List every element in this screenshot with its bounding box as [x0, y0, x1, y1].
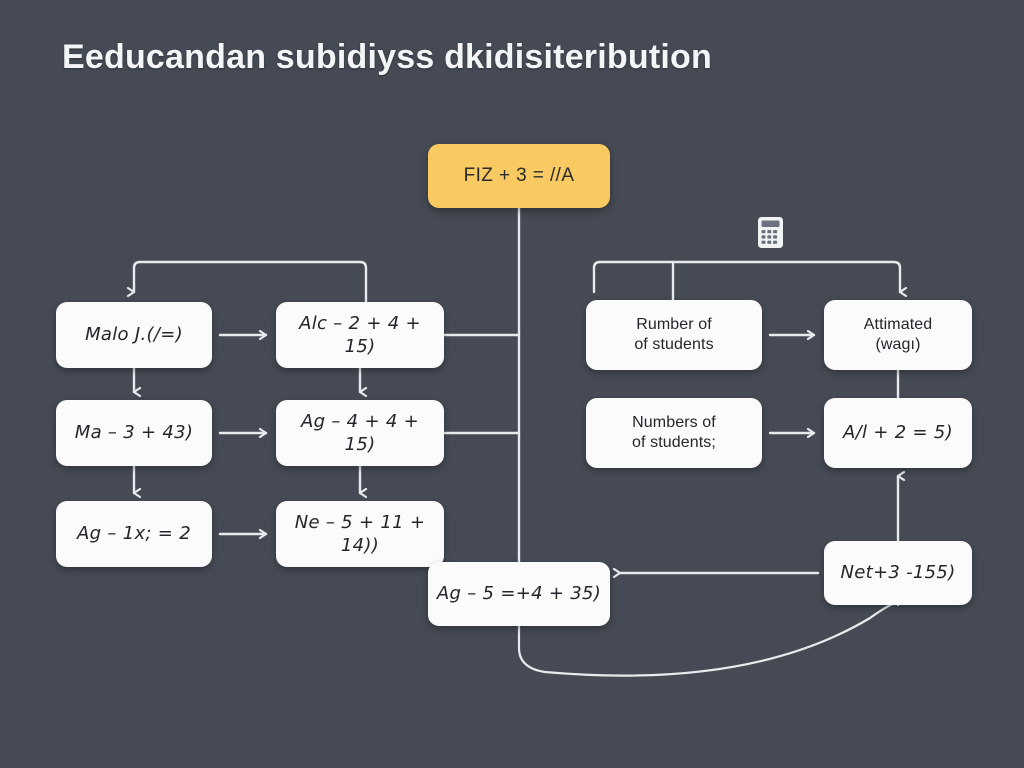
connector-lines	[0, 0, 1024, 768]
diagram-canvas: Eeducandan subidiyss dkidisiteribution	[0, 0, 1024, 768]
node-left-2-to[interactable]: Ag – 4 + 4 + 15)	[276, 400, 444, 466]
node-right-1-to[interactable]: Attimated(wagı)	[824, 300, 972, 370]
node-right-2-to[interactable]: A/l + 2 = 5)	[824, 398, 972, 468]
node-bottom-right[interactable]: Net+3 -155)	[824, 541, 972, 605]
node-left-1-from[interactable]: Malo J.(/=)	[56, 302, 212, 368]
wire-right-bus	[594, 262, 900, 292]
node-left-2-from[interactable]: Ma – 3 + 43)	[56, 400, 212, 466]
calculator-icon	[757, 216, 784, 249]
node-left-3-from[interactable]: Ag – 1x; = 2	[56, 501, 212, 567]
wire-left-bus	[134, 262, 366, 302]
page-title: Eeducandan subidiyss dkidisiteribution	[62, 38, 712, 77]
node-left-1-to[interactable]: Alc – 2 + 4 + 15)	[276, 302, 444, 368]
node-right-1-from[interactable]: Rumber ofof students	[586, 300, 762, 370]
node-root[interactable]: FIZ + 3 = //A	[428, 144, 610, 208]
node-left-3-to[interactable]: Ne – 5 + 11 + 14))	[276, 501, 444, 567]
node-bottom-center[interactable]: Ag – 5 =+4 + 35)	[428, 562, 610, 626]
node-right-2-from[interactable]: Numbers ofof students;	[586, 398, 762, 468]
